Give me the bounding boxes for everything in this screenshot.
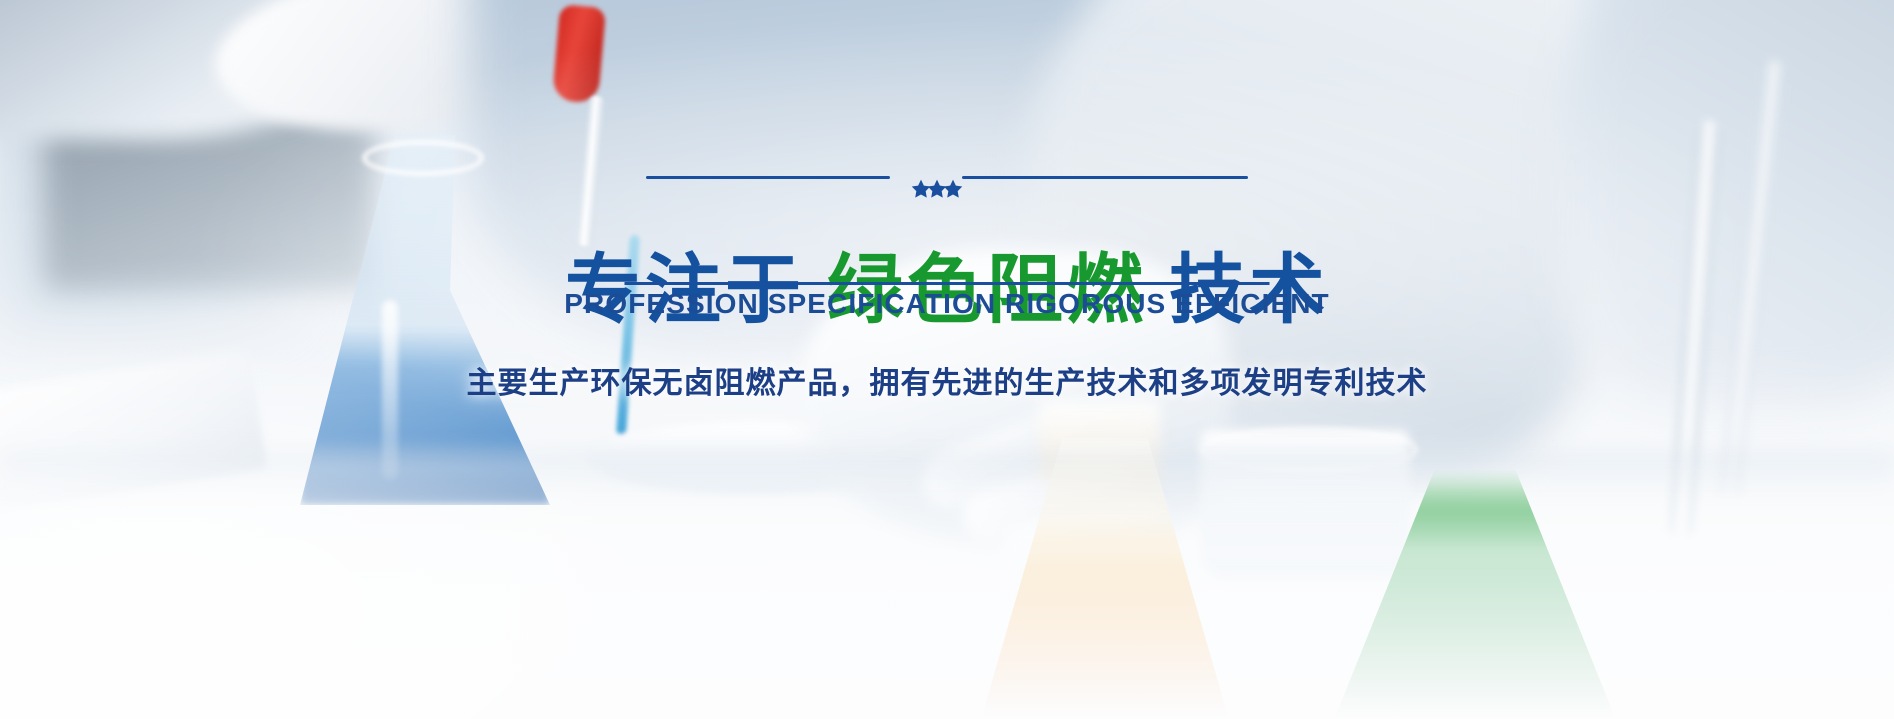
flask-rim xyxy=(362,140,484,176)
lab-coat-far-right xyxy=(1564,0,1894,400)
bench-surface xyxy=(0,459,1894,719)
hero-banner: 专注于绿色阻燃技术 PROFESSION SPECIFICATION RIGOR… xyxy=(0,0,1894,719)
background-photo xyxy=(0,0,1894,719)
